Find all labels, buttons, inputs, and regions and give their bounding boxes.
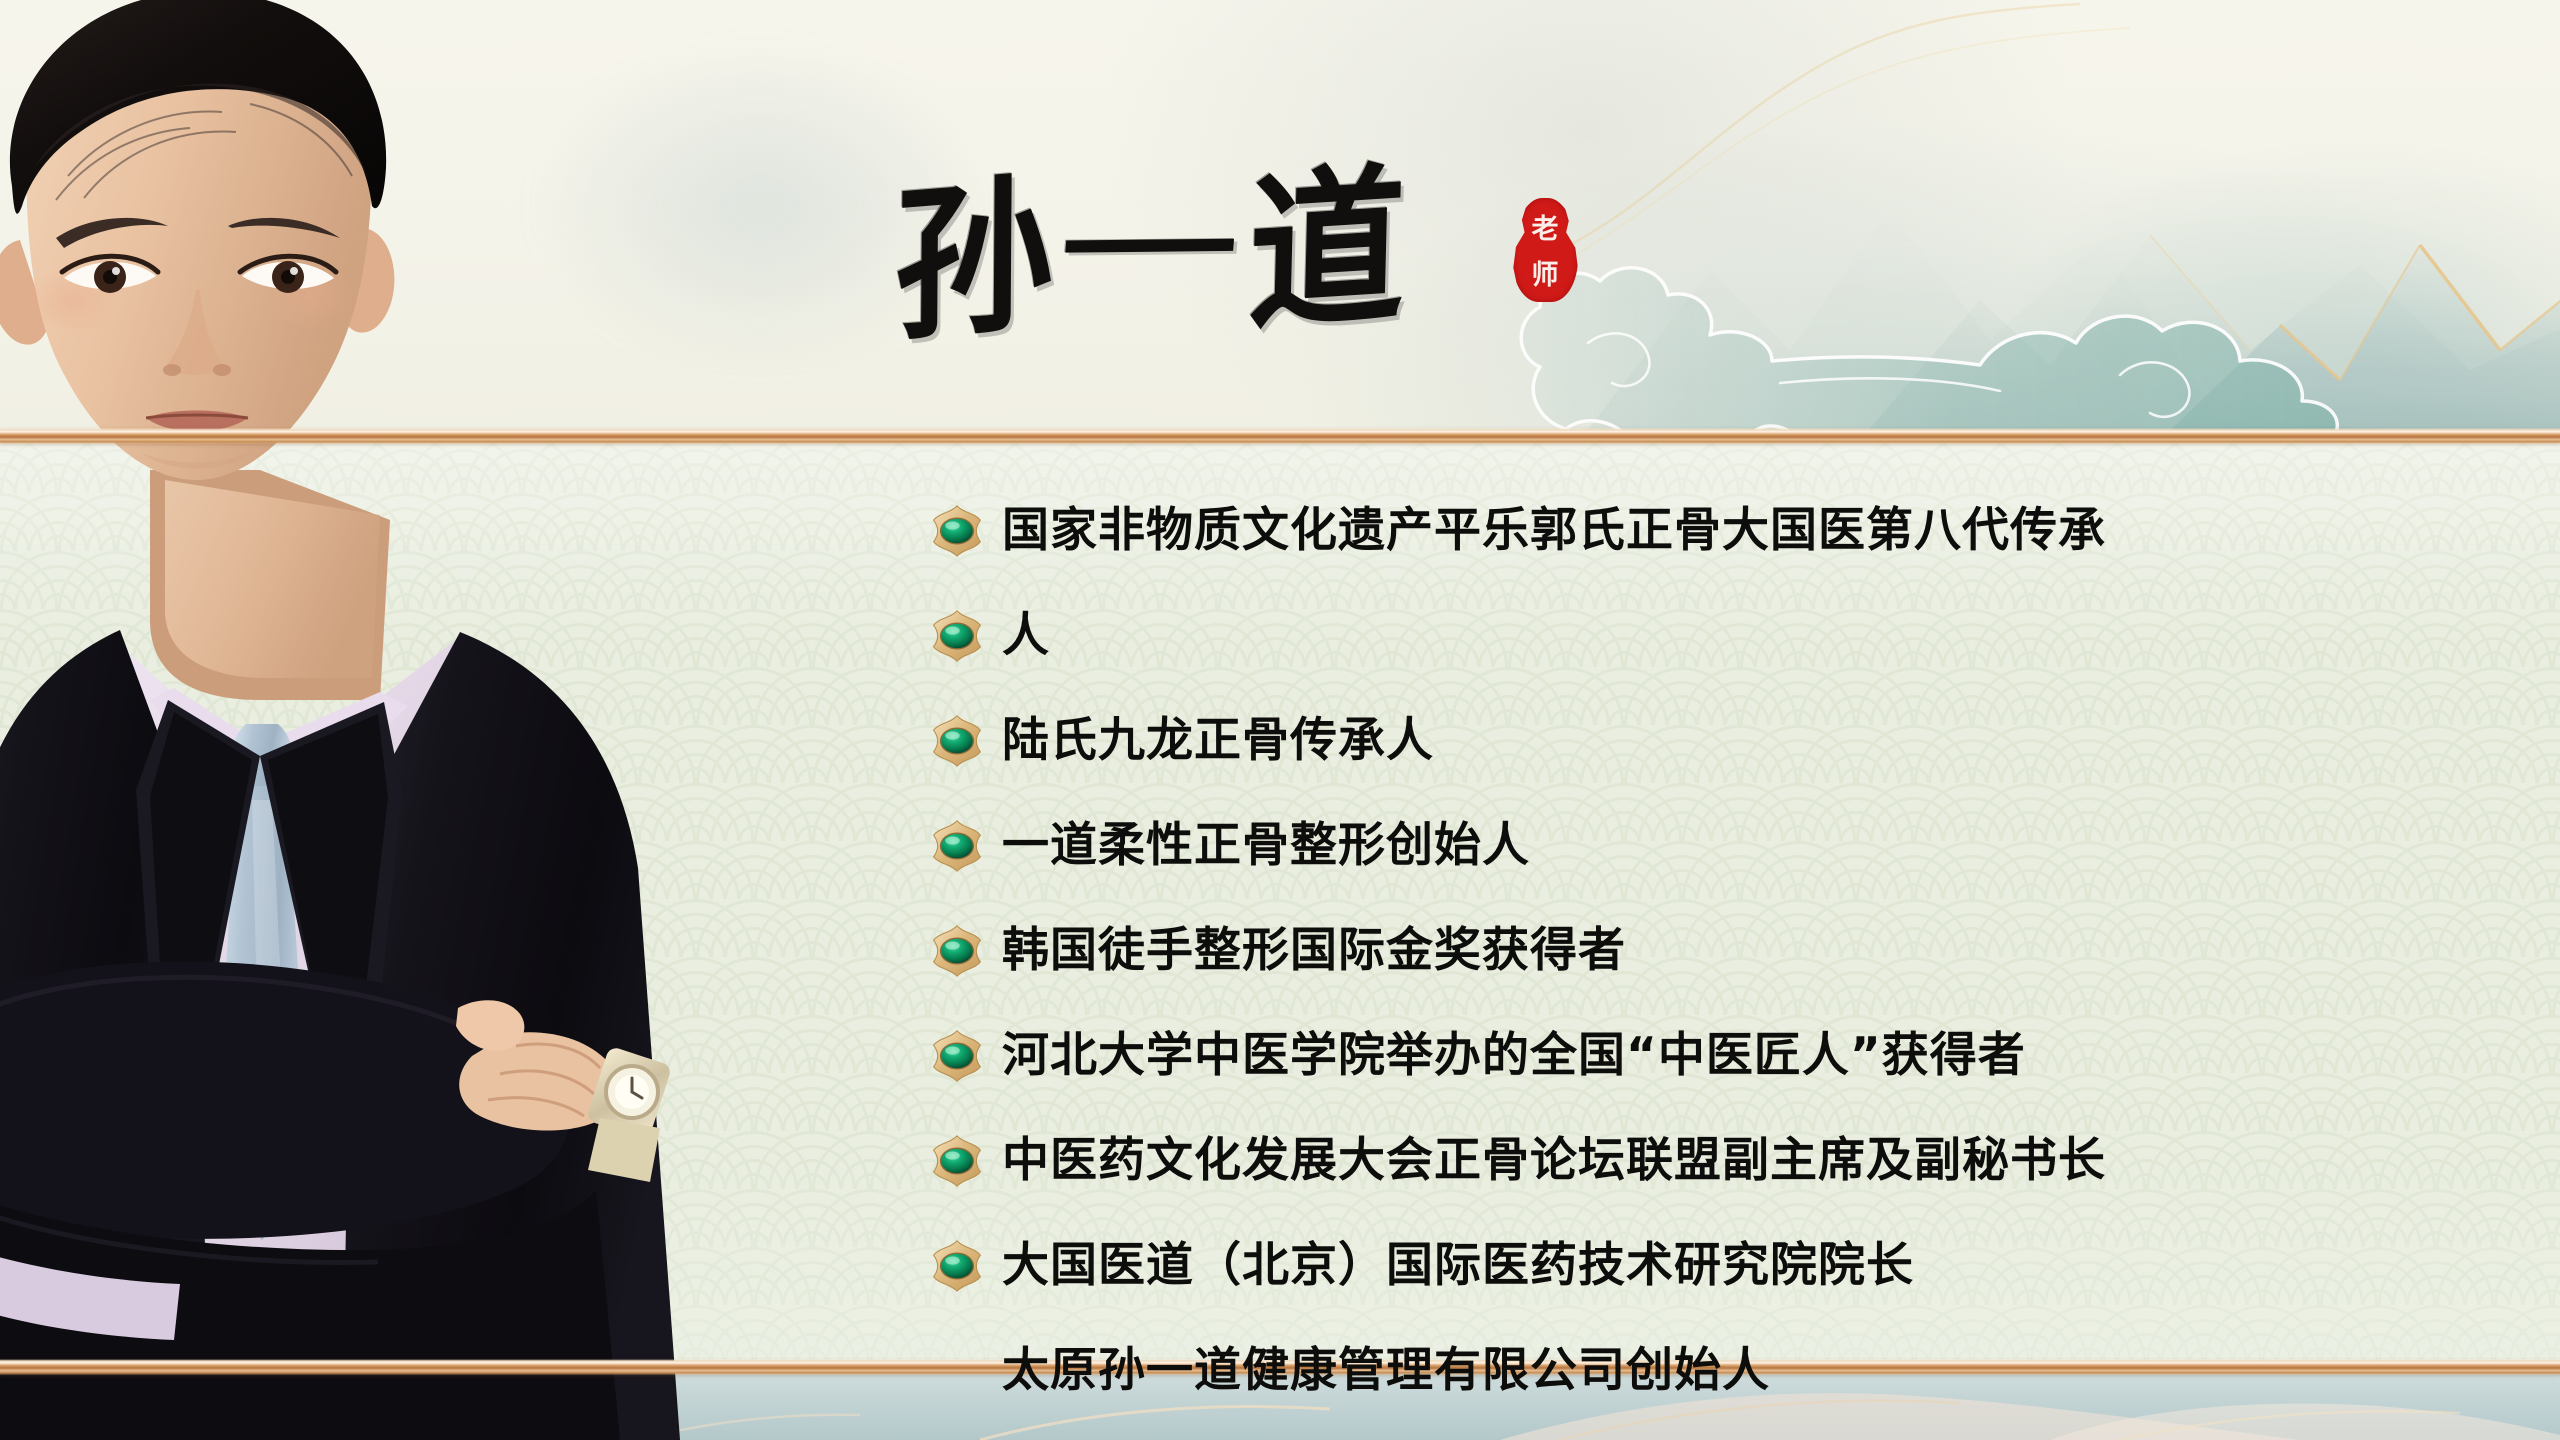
- red-seal-stamp-icon: 老 师: [1512, 198, 1578, 302]
- jade-gem-bullet-icon: [930, 1239, 984, 1293]
- portrait-photo: [0, 0, 950, 1440]
- list-item: 陆氏九龙正骨传承人: [930, 715, 2530, 767]
- list-item: 中医药文化发展大会正骨论坛联盟副主席及副秘书长: [930, 1135, 2530, 1187]
- seal-text: 老 师: [1512, 198, 1578, 302]
- credential-text: 一道柔性正骨整形创始人: [1002, 820, 1530, 872]
- jade-gem-bullet-icon: [930, 504, 984, 558]
- list-item: 韩国徒手整形国际金奖获得者: [930, 925, 2530, 977]
- credential-list: 国家非物质文化遗产平乐郭氏正骨大国医第八代传承 人: [930, 505, 2530, 1397]
- list-item: 一道柔性正骨整形创始人: [930, 820, 2530, 872]
- jade-gem-bullet-icon: [930, 714, 984, 768]
- calligraphy-title-block: 孙一道 老 师: [900, 150, 1640, 380]
- title-char-2: 一: [1055, 176, 1274, 326]
- list-item: 大国医道（北京）国际医药技术研究院院长: [930, 1240, 2530, 1292]
- portrait-figure: [0, 0, 950, 1440]
- list-item: 太原孙一道健康管理有限公司创始人: [930, 1345, 2530, 1397]
- credential-text: 太原孙一道健康管理有限公司创始人: [1002, 1345, 1770, 1397]
- seal-char-1: 老: [1512, 207, 1578, 253]
- list-item: 河北大学中医学院举办的全国“中医匠人”获得者: [930, 1030, 2530, 1082]
- credential-text: 河北大学中医学院举办的全国“中医匠人”获得者: [1002, 1030, 2026, 1082]
- page-title: 孙一道: [893, 140, 1607, 369]
- credential-text: 陆氏九龙正骨传承人: [1002, 715, 1434, 767]
- seal-char-2: 师: [1512, 253, 1578, 299]
- jade-gem-bullet-icon: [930, 609, 984, 663]
- jade-gem-bullet-icon: [930, 1029, 984, 1083]
- credential-text: 韩国徒手整形国际金奖获得者: [1002, 925, 1626, 977]
- credential-text: 人: [1002, 610, 1050, 662]
- jade-gem-bullet-icon: [930, 1134, 984, 1188]
- credential-text: 中医药文化发展大会正骨论坛联盟副主席及副秘书长: [1002, 1135, 2106, 1187]
- credential-text: 国家非物质文化遗产平乐郭氏正骨大国医第八代传承: [1002, 505, 2106, 557]
- list-item: 国家非物质文化遗产平乐郭氏正骨大国医第八代传承: [930, 505, 2530, 557]
- jade-gem-bullet-icon: [930, 819, 984, 873]
- credential-text: 大国医道（北京）国际医药技术研究院院长: [1002, 1240, 1914, 1292]
- poster-root: 孙一道 老 师: [0, 0, 2560, 1440]
- title-char-3: 道: [1246, 128, 1435, 373]
- title-char-1: 孙: [893, 138, 1082, 382]
- jade-gem-bullet-icon: [930, 924, 984, 978]
- gold-divider-top: [0, 428, 2560, 444]
- list-item: 人: [930, 610, 2530, 662]
